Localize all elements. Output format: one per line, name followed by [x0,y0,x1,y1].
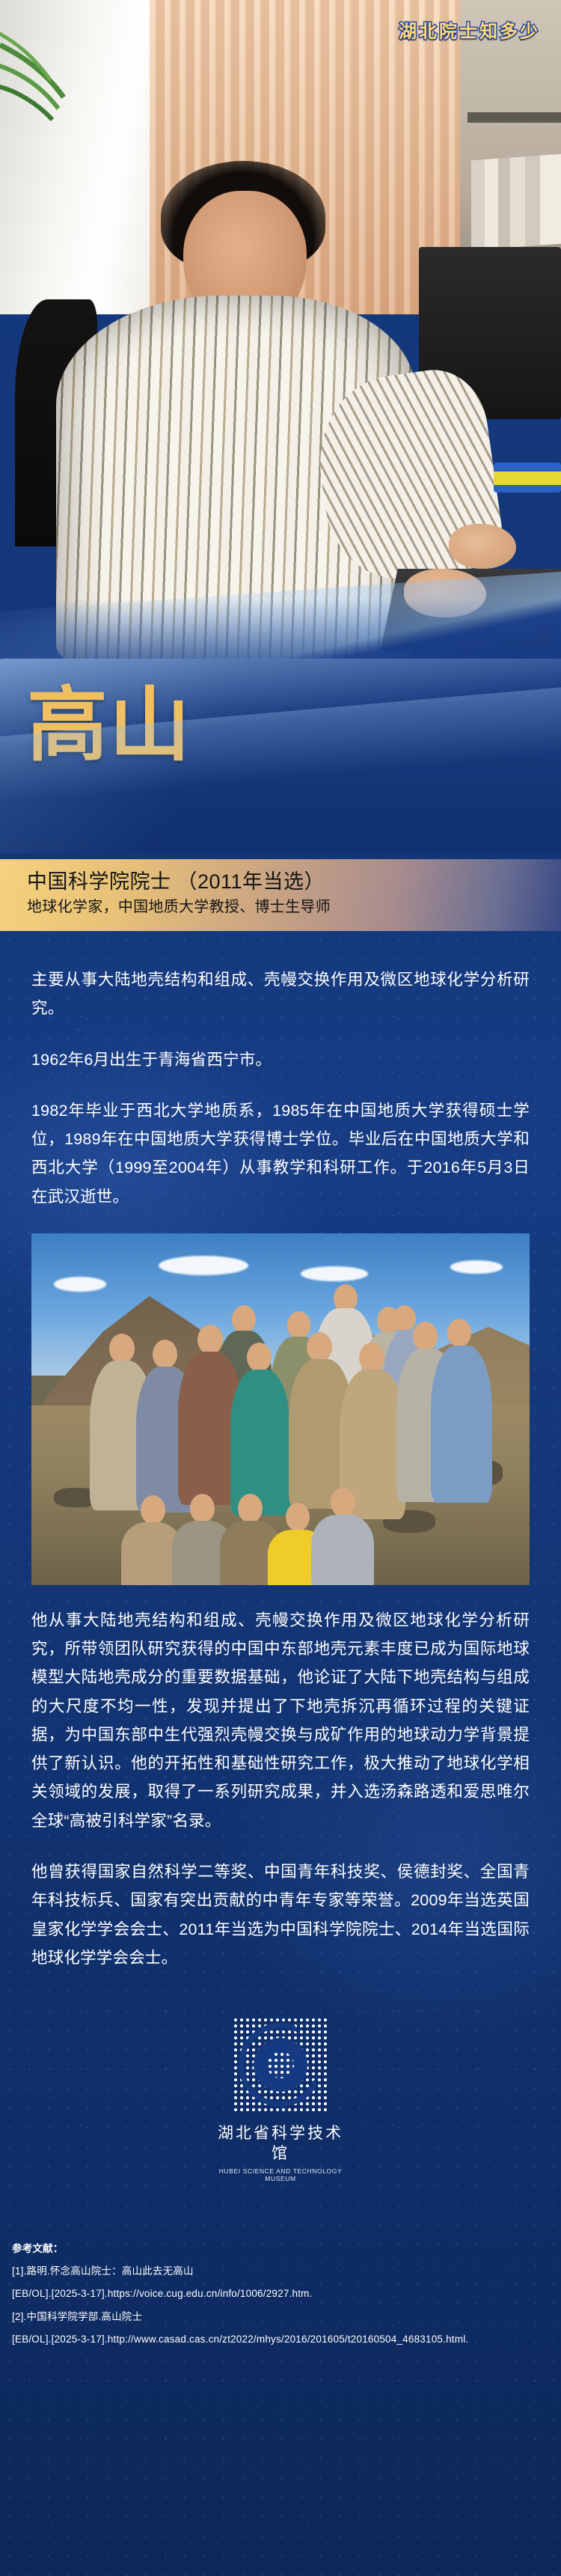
group-photo-figure [393,1305,416,1332]
name-band: 高山 [0,659,561,853]
museum-logo-mark [233,2017,328,2113]
bio-paragraph: 1982年毕业于西北大学地质系，1985年在中国地质大学获得硕士学位，1989年… [31,1096,530,1211]
research-paragraph: 他从事大陆地壳结构和组成、壳幔交换作用及微区地球化学分析研究，所带领团队研究获得… [31,1606,530,1835]
group-photo-figure [109,1334,135,1364]
cloud-shape [54,1277,106,1292]
museum-logo: 湖北省科学技术馆 HUBEI SCIENCE AND TECHNOLOGY MU… [217,2017,344,2182]
bio-paragraph: 主要从事大陆地壳结构和组成、壳幔交换作用及微区地球化学分析研究。 [31,931,530,1023]
body-section: 主要从事大陆地壳结构和组成、壳幔交换作用及微区地球化学分析研究。 1962年6月… [0,931,561,2576]
group-photo-figure [287,1311,310,1339]
museum-name-en: HUBEI SCIENCE AND TECHNOLOGY MUSEUM [217,2167,344,2182]
group-photo-figure [153,1340,177,1369]
group-photo-figure [413,1322,438,1351]
museum-name-cn: 湖北省科学技术馆 [217,2123,344,2164]
references-block: 参考文献： [1].路明.怀念高山院士：高山此去无高山 [EB/OL].[202… [12,2238,549,2351]
academy-title: 中国科学院院士 （2011年当选） [27,868,561,895]
group-photo-figure [431,1346,492,1503]
bio-paragraph: 1962年6月出生于青海省西宁市。 [31,1046,530,1074]
group-photo-figure [190,1494,215,1523]
plant-icon [0,15,82,165]
group-photo-figure [331,1488,355,1517]
group-photo-figure [286,1503,310,1531]
cloud-shape [450,1260,503,1274]
series-title: 湖北院士知多少 [399,16,540,43]
group-photo [31,1233,530,1585]
poster-page: 湖北院士知多少 高山 中国科学院院士 （2011年当选） 地球化学家，中国地质大… [0,0,561,2576]
credentials-band: 中国科学院院士 （2011年当选） 地球化学家，中国地质大学教授、博士生导师 [0,859,561,931]
group-photo-figure [359,1343,384,1373]
reference-item: [EB/OL].[2025-3-17].https://voice.cug.ed… [12,2283,549,2305]
awards-paragraph: 他曾获得国家自然科学二等奖、中国青年科技奖、侯德封奖、全国青年科技标兵、国家有突… [31,1858,530,1972]
reference-item: [2].中国科学院学部.高山院士 [12,2306,549,2328]
role-subtitle: 地球化学家，中国地质大学教授、博士生导师 [27,897,561,918]
photo-shelf [467,112,561,123]
group-photo-figure [230,1370,290,1516]
cloud-shape [301,1266,368,1281]
photo-desk-items [494,463,561,492]
reference-item: [1].路明.怀念高山院士：高山此去无高山 [12,2260,549,2283]
group-photo-figure [197,1325,223,1355]
references-title: 参考文献： [12,2238,549,2260]
group-photo-figure [141,1495,165,1524]
logo-inner-dots [267,2051,294,2078]
photo-hand-right [449,524,516,569]
group-photo-figure [232,1305,256,1334]
page-title: 高山 [27,684,191,766]
cloud-shape [159,1256,248,1275]
group-photo-figure [238,1494,263,1523]
group-photo-figure [307,1332,332,1362]
group-photo-figure [247,1343,272,1372]
reference-item: [EB/OL].[2025-3-17].http://www.casad.cas… [12,2328,549,2351]
hero-photo-section: 湖北院士知多少 [0,0,561,718]
group-photo-figure [447,1319,471,1347]
group-photo-figure [311,1515,374,1585]
photo-books [471,154,561,250]
